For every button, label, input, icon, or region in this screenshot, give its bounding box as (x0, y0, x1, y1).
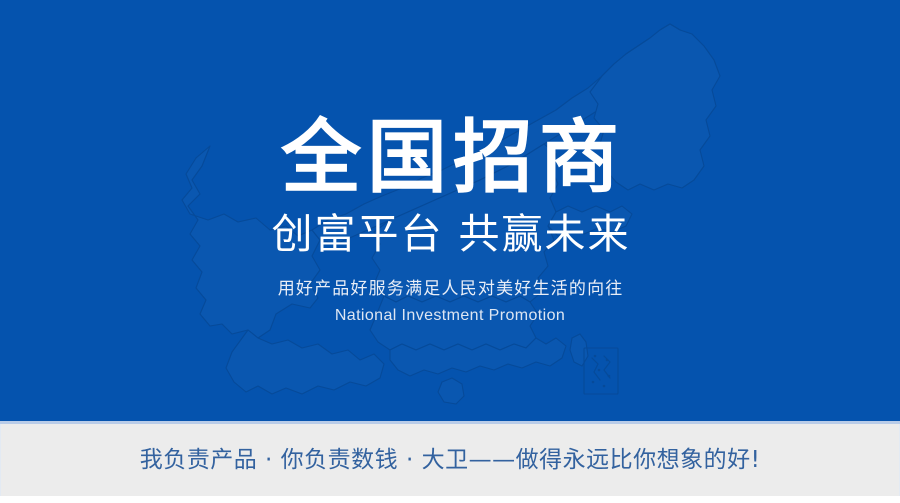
hero-text-block: 全国招商 创富平台 共赢未来 用好产品好服务满足人民对美好生活的向往 Natio… (0, 0, 900, 421)
tagline-chinese: 用好产品好服务满足人民对美好生活的向往 (277, 279, 624, 299)
footer-slogan: 我负责产品 · 你负责数钱 · 大卫——做得永远比你想象的好! (140, 449, 761, 472)
promo-banner: 全国招商 创富平台 共赢未来 用好产品好服务满足人民对美好生活的向往 Natio… (0, 0, 900, 503)
footer-section: 我负责产品 · 你负责数钱 · 大卫——做得永远比你想象的好! (0, 424, 900, 496)
page-subtitle: 创富平台 共赢未来 (269, 212, 630, 257)
footer-base-strip (0, 496, 900, 503)
hero-section: 全国招商 创富平台 共赢未来 用好产品好服务满足人民对美好生活的向往 Natio… (0, 0, 900, 421)
page-title: 全国招商 (275, 118, 625, 198)
tagline-english: National Investment Promotion (335, 306, 565, 325)
